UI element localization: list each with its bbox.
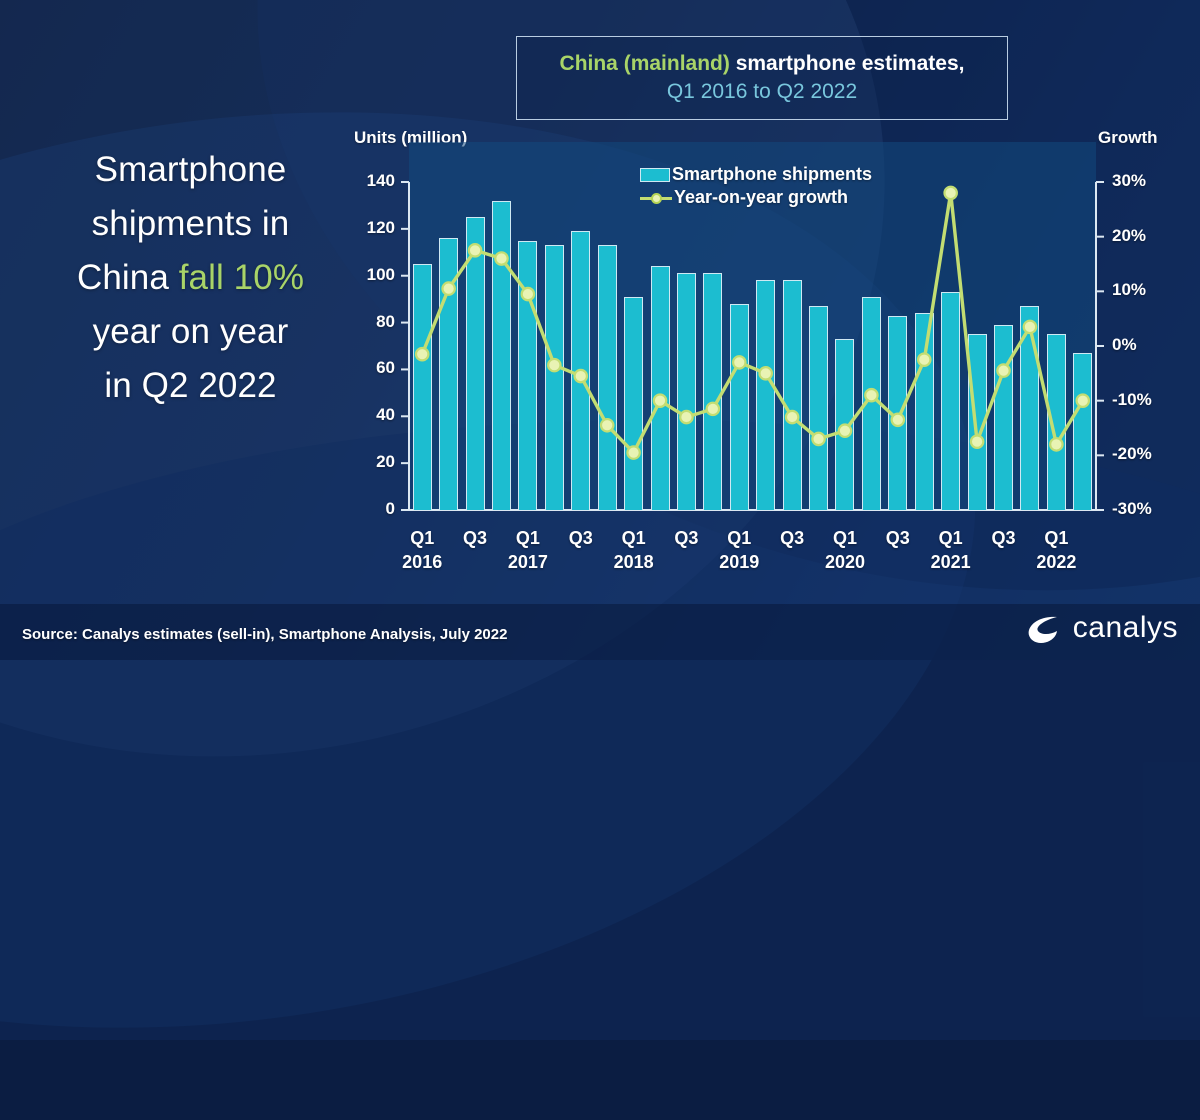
bar-q3-2018[interactable] <box>677 273 696 510</box>
y-tick-120: 120 <box>343 218 395 238</box>
x-tick-Q1-2022: Q12022 <box>1016 528 1096 573</box>
legend-item-shipments[interactable]: Smartphone shipments <box>640 163 872 186</box>
y-tick-40: 40 <box>343 405 395 425</box>
bar-q2-2017[interactable] <box>545 245 564 510</box>
legend-line-marker-icon <box>640 191 672 205</box>
y2-tick-neg30pct: -30% <box>1112 499 1182 519</box>
x-tick-year: 2021 <box>911 552 991 573</box>
bar-q1-2020[interactable] <box>835 339 854 510</box>
bar-q3-2017[interactable] <box>571 231 590 510</box>
x-tick-year: 2017 <box>488 552 568 573</box>
legend-label-growth: Year-on-year growth <box>674 187 848 208</box>
x-tick-year: 2016 <box>382 552 462 573</box>
bar-q1-2021[interactable] <box>941 292 960 510</box>
bar-q1-2017[interactable] <box>518 241 537 510</box>
bar-q1-2019[interactable] <box>730 304 749 510</box>
y-tick-80: 80 <box>343 312 395 332</box>
bar-q1-2018[interactable] <box>624 297 643 510</box>
chart-legend: Smartphone shipments Year-on-year growth <box>640 163 872 209</box>
bar-q2-2022[interactable] <box>1073 353 1092 510</box>
bar-q3-2021[interactable] <box>994 325 1013 510</box>
x-tick-quarter: Q1 <box>1016 528 1096 549</box>
y-tick-20: 20 <box>343 452 395 472</box>
x-tick-year: 2019 <box>699 552 779 573</box>
chart-plot-area: 020406080100120140 -30%-20%-10%0%10%20%3… <box>0 0 1200 660</box>
y-tick-60: 60 <box>343 358 395 378</box>
y2-tick-0pct: 0% <box>1112 335 1182 355</box>
bar-q3-2016[interactable] <box>466 217 485 510</box>
y2-tick-neg10pct: -10% <box>1112 390 1182 410</box>
legend-item-growth[interactable]: Year-on-year growth <box>640 186 872 209</box>
y2-tick-30pct: 30% <box>1112 171 1182 191</box>
bar-q3-2020[interactable] <box>888 316 907 510</box>
y-tick-140: 140 <box>343 171 395 191</box>
legend-label-shipments: Smartphone shipments <box>672 164 872 185</box>
source-note: Source: Canalys estimates (sell-in), Sma… <box>22 626 507 643</box>
y-tick-100: 100 <box>343 265 395 285</box>
infographic-root: Smartphone shipments in China fall 10% y… <box>0 0 1200 660</box>
bar-q4-2018[interactable] <box>703 273 722 510</box>
canalys-wordmark: canalys <box>1073 611 1178 645</box>
legend-bar-swatch-icon <box>640 168 670 182</box>
bar-q2-2016[interactable] <box>439 238 458 510</box>
bar-q1-2016[interactable] <box>413 264 432 510</box>
bar-q2-2021[interactable] <box>968 334 987 510</box>
bar-q1-2022[interactable] <box>1047 334 1066 510</box>
bar-q3-2019[interactable] <box>783 280 802 510</box>
bar-q4-2016[interactable] <box>492 201 511 510</box>
x-tick-year: 2022 <box>1016 552 1096 573</box>
x-tick-year: 2020 <box>805 552 885 573</box>
y2-tick-20pct: 20% <box>1112 226 1182 246</box>
x-tick-year: 2018 <box>594 552 674 573</box>
bar-q4-2019[interactable] <box>809 306 828 510</box>
canalys-logo: canalys <box>1024 608 1178 648</box>
canalys-mark-icon <box>1024 608 1064 648</box>
bar-q4-2017[interactable] <box>598 245 617 510</box>
bar-q2-2018[interactable] <box>651 266 670 510</box>
bar-q2-2019[interactable] <box>756 280 775 510</box>
bar-q4-2021[interactable] <box>1020 306 1039 510</box>
y-tick-0: 0 <box>343 499 395 519</box>
y2-tick-10pct: 10% <box>1112 280 1182 300</box>
bar-q4-2020[interactable] <box>915 313 934 510</box>
bar-q2-2020[interactable] <box>862 297 881 510</box>
y2-tick-neg20pct: -20% <box>1112 444 1182 464</box>
